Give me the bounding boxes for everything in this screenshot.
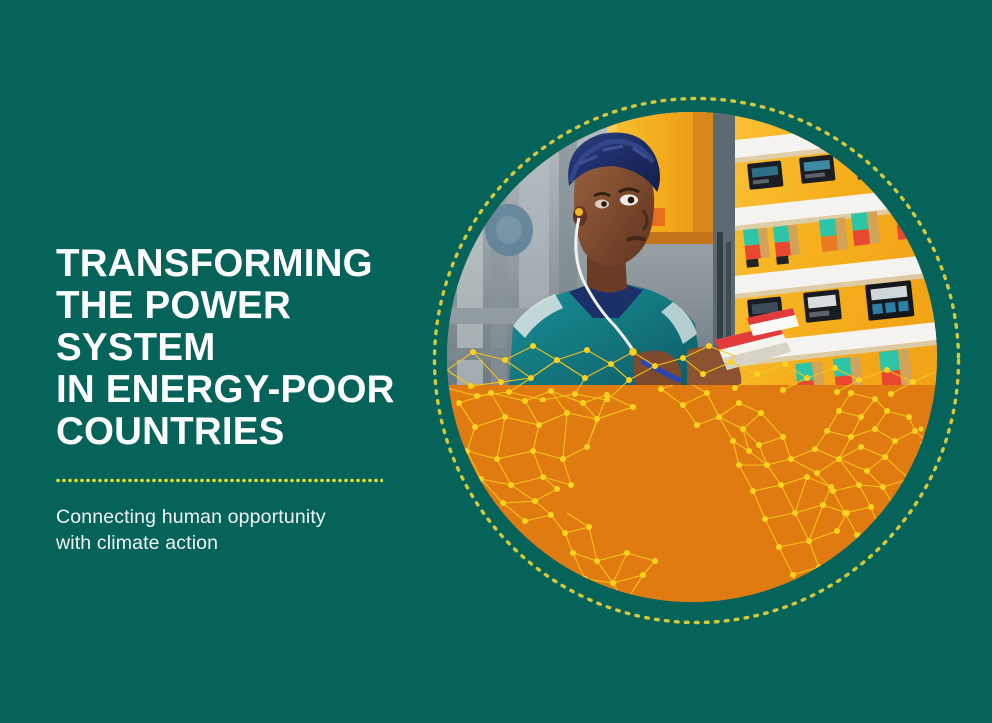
circular-hero-composite bbox=[424, 88, 969, 633]
report-cover: TRANSFORMING THE POWER SYSTEM IN ENERGY-… bbox=[0, 0, 992, 723]
world-network-map bbox=[447, 385, 937, 602]
page-title: TRANSFORMING THE POWER SYSTEM IN ENERGY-… bbox=[56, 243, 436, 453]
cover-text-block: TRANSFORMING THE POWER SYSTEM IN ENERGY-… bbox=[56, 243, 436, 556]
hero-circle bbox=[447, 112, 937, 602]
network-nodes bbox=[456, 385, 934, 602]
photo-worker-at-control-panel bbox=[447, 112, 937, 386]
page-subtitle: Connecting human opportunity with climat… bbox=[56, 483, 436, 556]
photo-illustration bbox=[447, 112, 937, 386]
orange-globe-network-map bbox=[447, 385, 937, 602]
